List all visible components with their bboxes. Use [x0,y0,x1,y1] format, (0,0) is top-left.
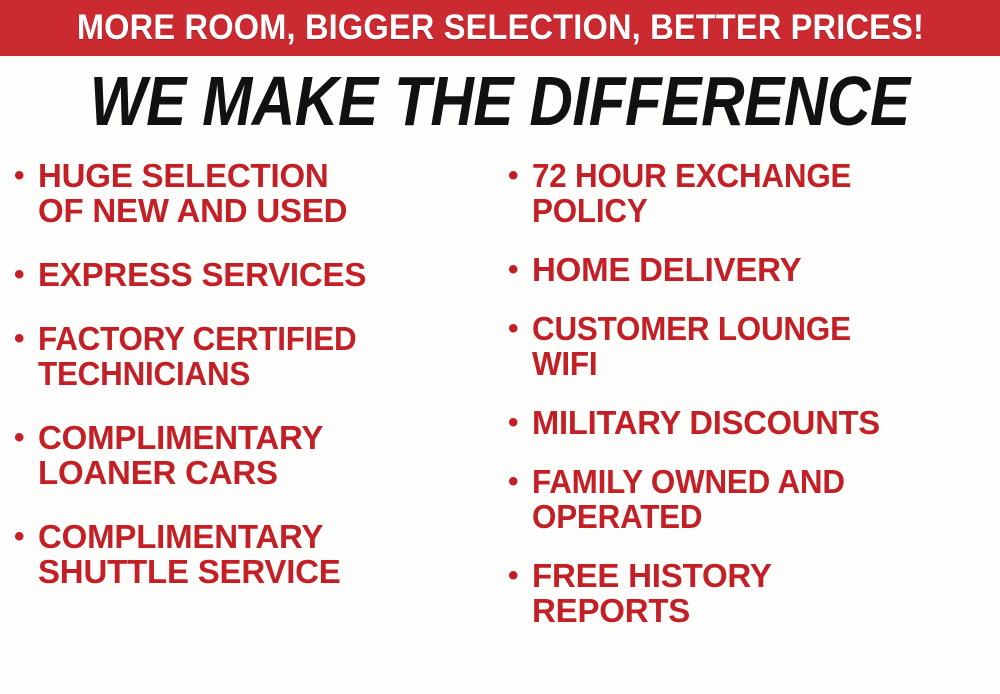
list-item: • EXPRESS SERVICES [14,257,496,292]
bullet-dot-icon: • [508,464,532,499]
bullet-dot-icon: • [508,558,532,593]
list-item: • FAMILY OWNED AND OPERATED [508,464,1000,534]
bullet-dot-icon: • [14,519,38,554]
bullet-dot-icon: • [14,420,38,455]
list-item: • FREE HISTORY REPORTS [508,558,1000,628]
list-item: • HOME DELIVERY [508,252,1000,287]
bullet-dot-icon: • [14,257,38,292]
page-title: WE MAKE THE DIFFERENCE [90,65,910,137]
list-item: • COMPLIMENTARY SHUTTLE SERVICE [14,519,496,589]
headline-container: WE MAKE THE DIFFERENCE [0,64,1000,138]
promo-banner-text: MORE ROOM, BIGGER SELECTION, BETTER PRIC… [76,10,923,46]
bullet-dot-icon: • [14,321,38,356]
list-item-label: FREE HISTORY REPORTS [532,558,1000,628]
list-item: • COMPLIMENTARY LOANER CARS [14,420,496,490]
list-item-label: MILITARY DISCOUNTS [532,405,995,440]
list-item-label: FAMILY OWNED AND OPERATED [532,464,977,534]
list-item: • HUGE SELECTION OF NEW AND USED [14,158,496,228]
bullet-dot-icon: • [14,158,38,193]
list-item-label: EXPRESS SERVICES [38,257,496,292]
bullet-dot-icon: • [508,252,532,287]
list-item-label: HUGE SELECTION OF NEW AND USED [38,158,496,228]
benefits-column-left: • HUGE SELECTION OF NEW AND USED • EXPRE… [0,158,500,694]
dealership-benefits-ad: MORE ROOM, BIGGER SELECTION, BETTER PRIC… [0,0,1000,694]
list-item: • 72 HOUR EXCHANGE POLICY [508,158,1000,228]
list-item-label: CUSTOMER LOUNGE WIFI [532,311,977,381]
benefits-column-right: • 72 HOUR EXCHANGE POLICY • HOME DELIVER… [500,158,1000,694]
list-item: • MILITARY DISCOUNTS [508,405,1000,440]
bullet-dot-icon: • [508,405,532,440]
benefits-columns: • HUGE SELECTION OF NEW AND USED • EXPRE… [0,158,1000,694]
list-item-label: COMPLIMENTARY SHUTTLE SERVICE [38,519,496,589]
list-item-label: HOME DELIVERY [532,252,1000,287]
list-item: • FACTORY CERTIFIED TECHNICIANS [14,321,496,391]
list-item-label: FACTORY CERTIFIED TECHNICIANS [38,321,473,391]
list-item: • CUSTOMER LOUNGE WIFI [508,311,1000,381]
list-item-label: COMPLIMENTARY LOANER CARS [38,420,496,490]
bullet-dot-icon: • [508,158,532,193]
list-item-label: 72 HOUR EXCHANGE POLICY [532,158,977,228]
bullet-dot-icon: • [508,311,532,346]
promo-banner: MORE ROOM, BIGGER SELECTION, BETTER PRIC… [0,0,1000,56]
